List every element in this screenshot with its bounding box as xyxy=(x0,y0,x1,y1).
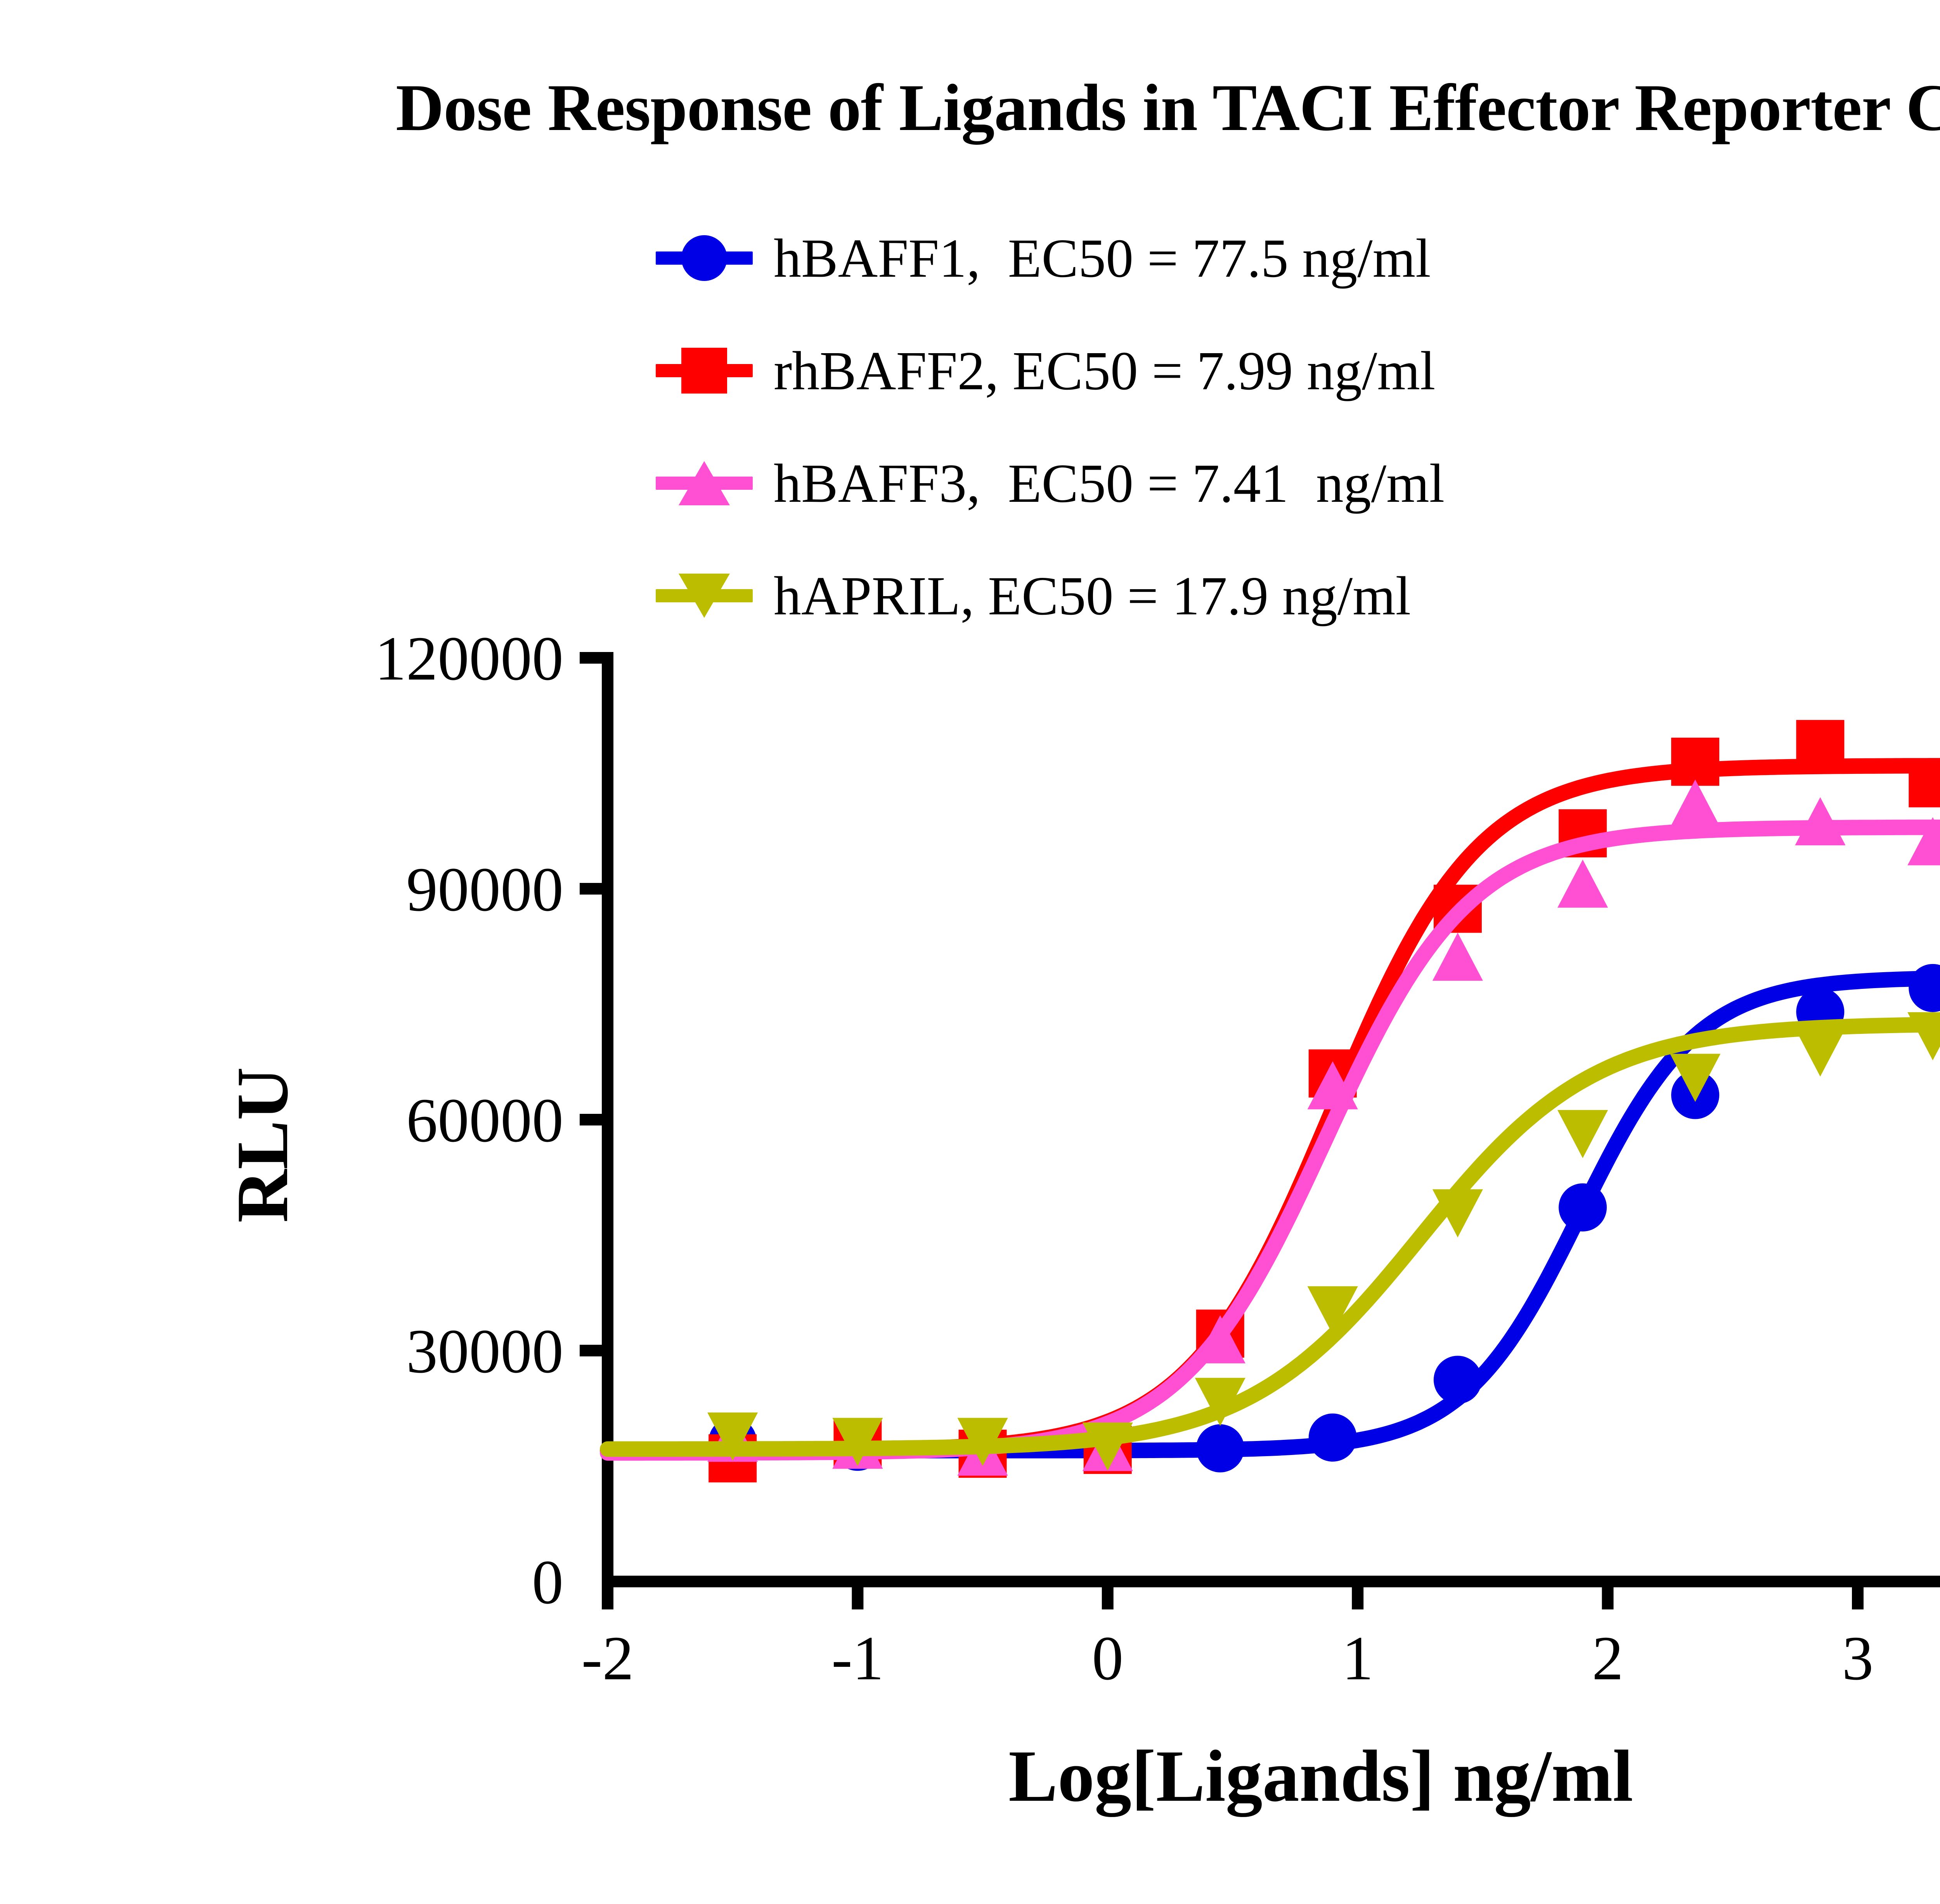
data-point xyxy=(1909,759,1940,807)
x-tick-label: 2 xyxy=(1592,1624,1623,1693)
data-point xyxy=(1557,1110,1608,1158)
y-tick-label: 120000 xyxy=(375,624,563,694)
x-tick-label: 3 xyxy=(1842,1624,1874,1693)
y-tick-label: 60000 xyxy=(406,1086,563,1155)
fit-curve xyxy=(608,766,1940,1451)
axes-group: 0300006000090000120000-2-10123Log[Ligand… xyxy=(222,624,1940,1817)
y-tick-label: 30000 xyxy=(406,1317,563,1386)
data-point xyxy=(1796,720,1844,768)
x-tick-label: 0 xyxy=(1092,1624,1123,1693)
chart-figure: Dose Response of Ligands in TACI Effecto… xyxy=(0,0,1940,1904)
data-point xyxy=(1907,1012,1940,1060)
data-point xyxy=(1559,1183,1607,1231)
data-point xyxy=(1196,1424,1244,1472)
series-hbaff3 xyxy=(608,779,1940,1476)
x-axis-title: Log[Ligands] ng/ml xyxy=(1008,1736,1633,1817)
data-point xyxy=(1671,738,1719,786)
x-tick-label: -2 xyxy=(582,1624,634,1693)
data-point xyxy=(1434,1356,1482,1404)
y-tick-label: 90000 xyxy=(406,855,563,924)
data-point xyxy=(1557,860,1608,908)
x-tick-label: 1 xyxy=(1342,1624,1374,1693)
y-tick-label: 0 xyxy=(532,1548,563,1617)
data-point xyxy=(1795,1028,1845,1077)
fit-curve xyxy=(608,827,1940,1453)
y-axis-title: RLU xyxy=(222,1067,303,1223)
plot-area: 0300006000090000120000-2-10123Log[Ligand… xyxy=(0,0,1940,1904)
data-point xyxy=(1670,779,1720,827)
x-tick-label: -1 xyxy=(831,1624,884,1693)
data-point xyxy=(1309,1413,1357,1462)
